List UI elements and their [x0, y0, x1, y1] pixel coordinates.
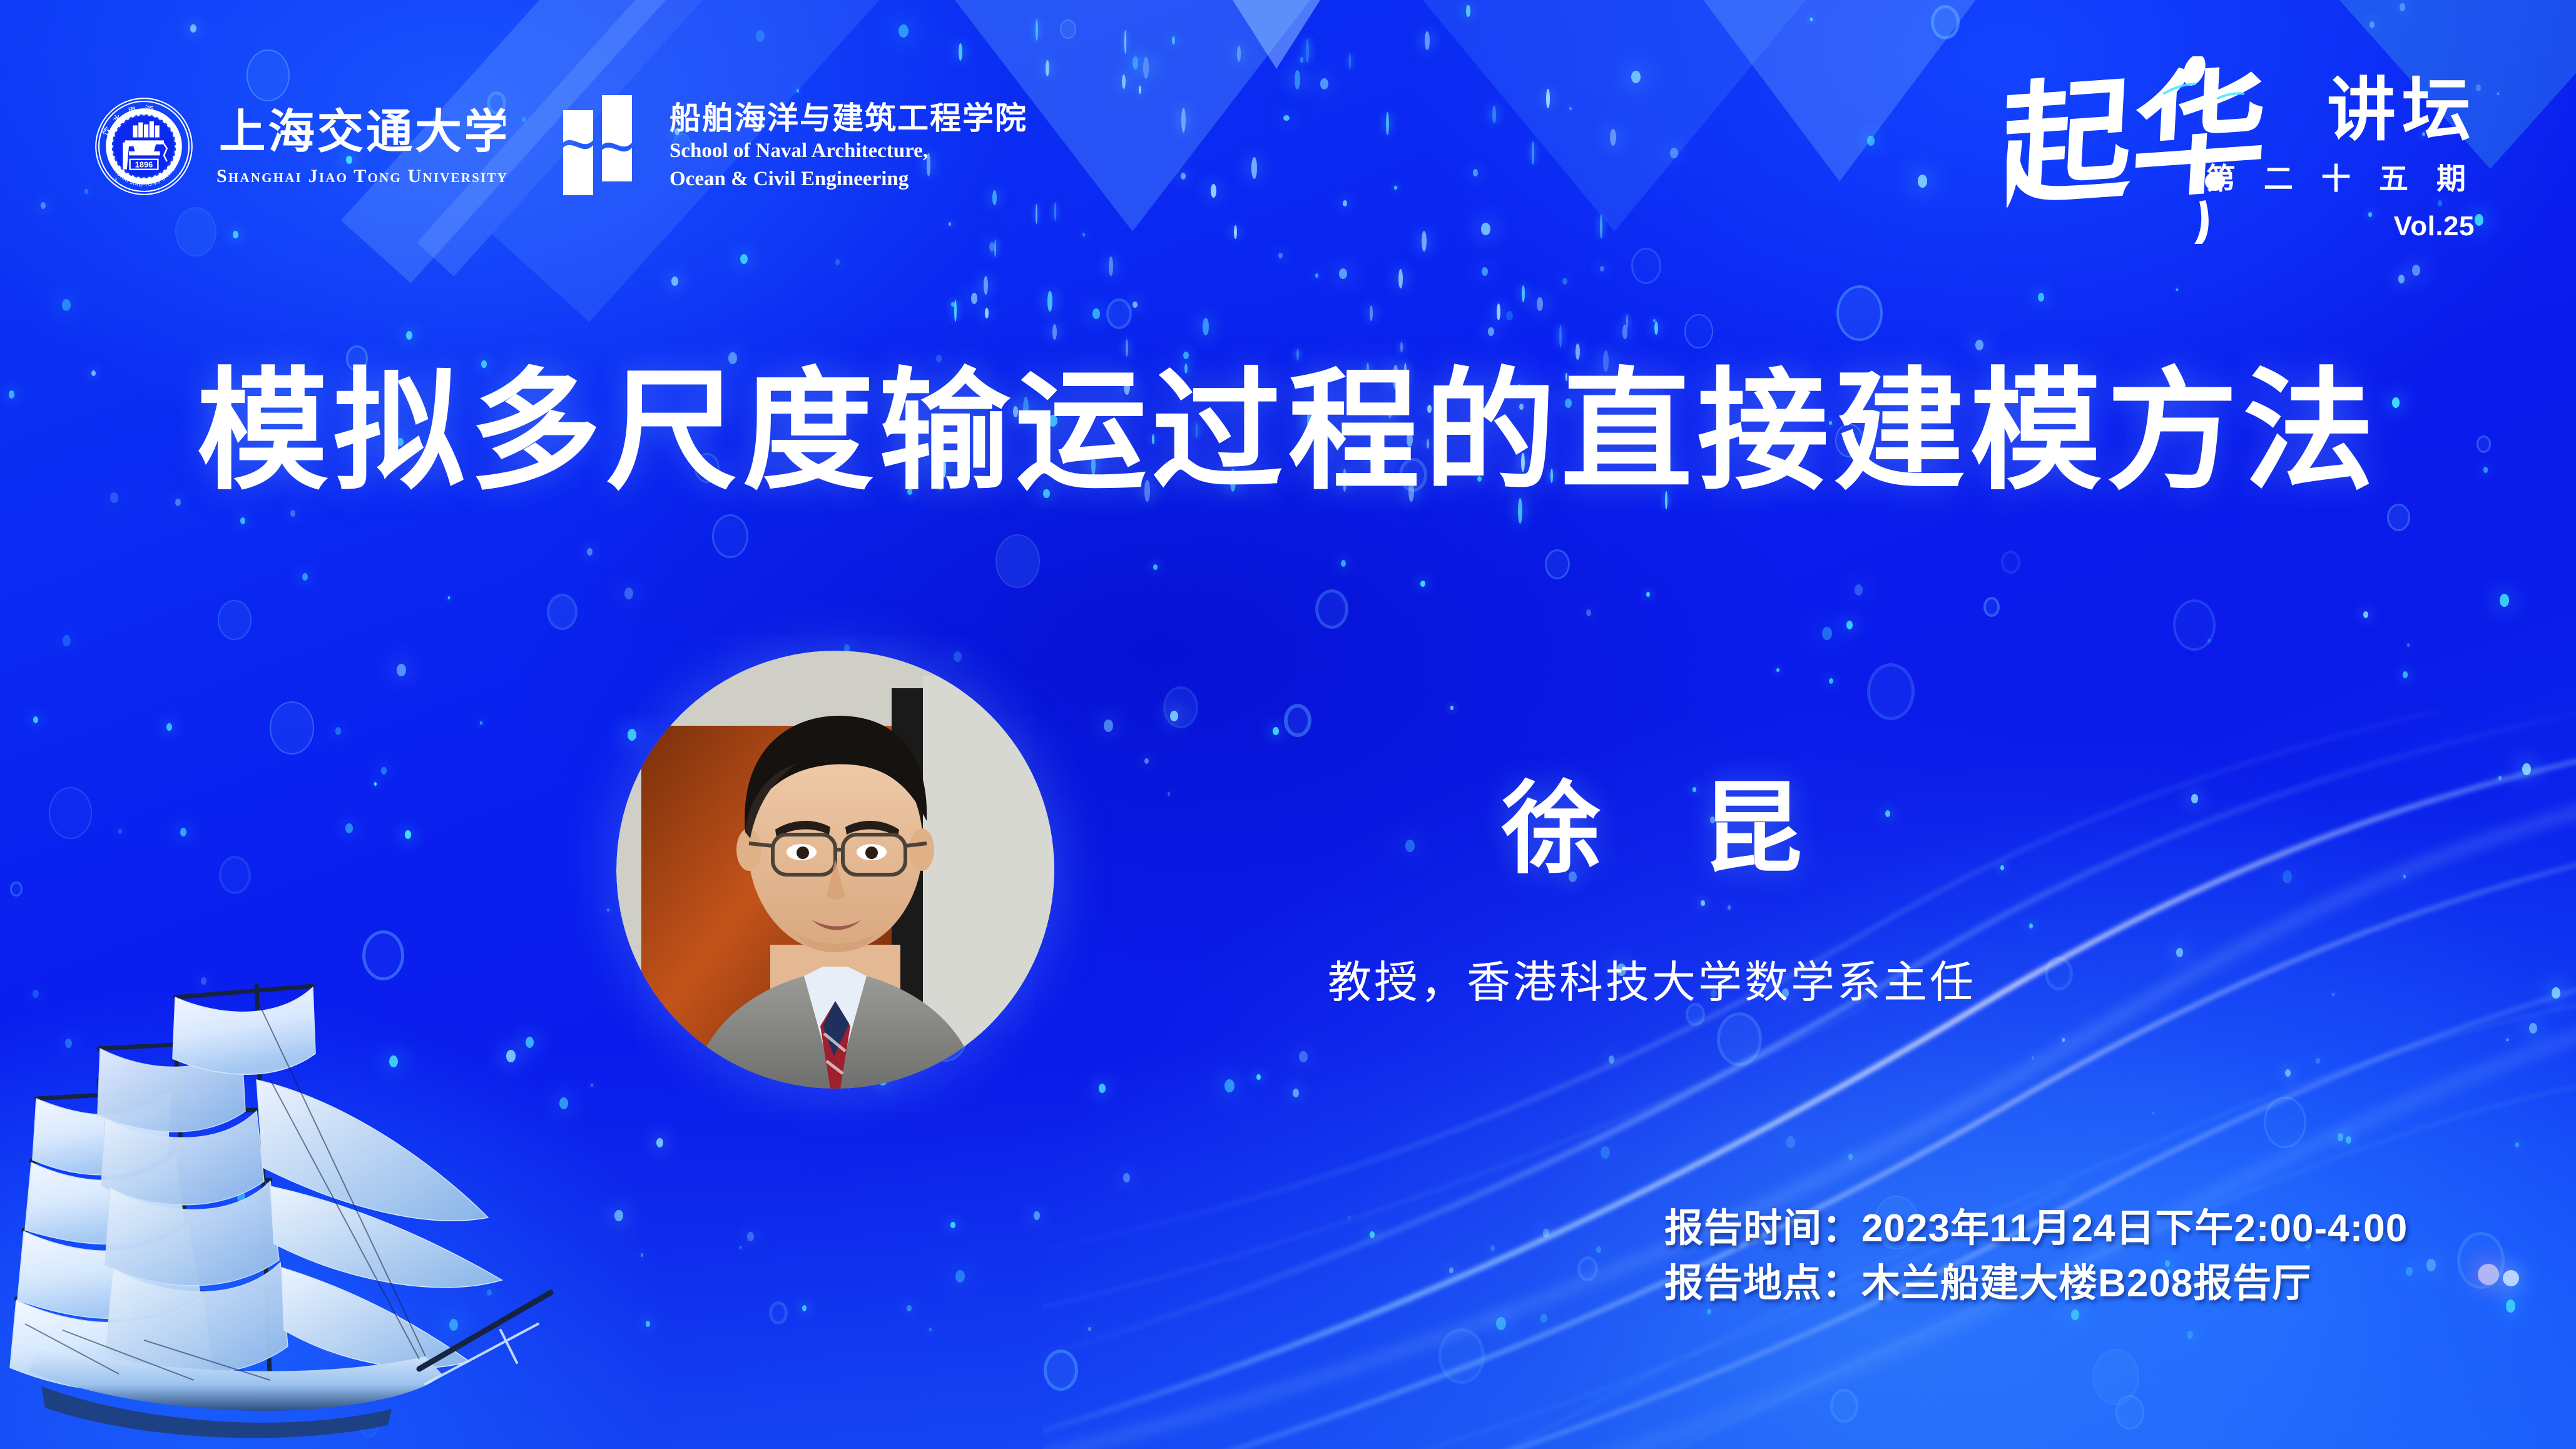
poster-canvas: {} 1896 — [0, 0, 2576, 1449]
forum-calligraphy-text: 起华 — [2007, 57, 2271, 225]
event-time: 报告时间：2023年11月24日下午2:00-4:00 — [1664, 1201, 2408, 1256]
school-name-cn: 船舶海洋与建筑工程学院 — [669, 101, 1027, 135]
sjtu-name-en: Shanghai Jiao Tong University — [216, 166, 508, 187]
school-name-en-line2: Ocean & Civil Engineering — [669, 167, 1027, 191]
event-venue: 报告地点：木兰船建大楼B208报告厅 — [1664, 1256, 2408, 1311]
forum-calligraphy-icon: 起华 — [2007, 56, 2301, 244]
seal-year: 1896 — [135, 160, 153, 170]
forum-issue: 第 二 十 五 期 — [2206, 164, 2476, 193]
sjtu-name-cn-icon: 上海交通大学 — [219, 106, 506, 160]
sjtu-name-cn-text: 上海交通大学 — [219, 106, 506, 158]
speaker-photo-icon — [616, 651, 1054, 1089]
sjtu-seal-icon: {} 1896 — [94, 96, 194, 196]
sjtu-wordmark: 上海交通大学 Shanghai Jiao Tong University — [216, 106, 508, 187]
header-logos: {} 1896 — [94, 94, 1027, 199]
speaker-name: 徐 昆 — [1101, 779, 2202, 879]
forum-name: 讲坛 — [2327, 76, 2477, 145]
speaker-role: 教授，香港科技大学数学系主任 — [1101, 960, 2202, 1004]
sailing-ship-decoration — [0, 892, 601, 1449]
event-details: 报告时间：2023年11月24日下午2:00-4:00 报告地点：木兰船建大楼B… — [1664, 1201, 2408, 1311]
school-logo-icon — [562, 94, 651, 199]
forum-brand: 起华 讲坛 第 二 十 五 期 Vol.25 — [2007, 56, 2482, 244]
forum-volume: Vol.25 — [2394, 213, 2475, 240]
school-name-en-line1: School of Naval Architecture, — [669, 139, 1027, 163]
school-wordmark: 船舶海洋与建筑工程学院 School of Naval Architecture… — [669, 101, 1027, 191]
page-title: 模拟多尺度输运过程的直接建模方法 — [0, 366, 2576, 497]
speaker-avatar — [616, 651, 1054, 1089]
